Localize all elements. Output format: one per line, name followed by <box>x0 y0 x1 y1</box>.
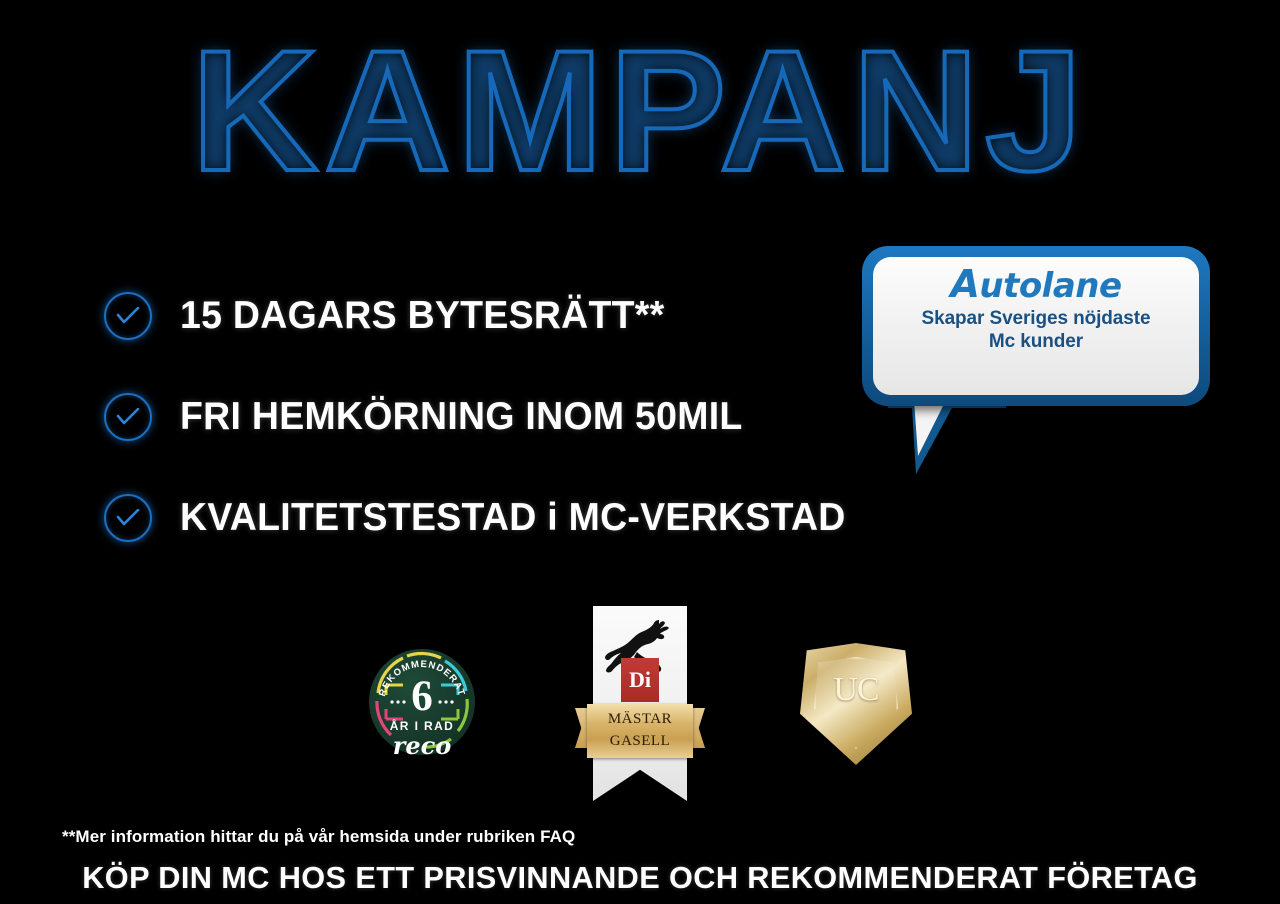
tagline: KÖP DIN MC HOS ETT PRISVINNANDE OCH REKO… <box>6 860 1273 896</box>
award-badges: REKOMMENDERAT 6 ÅR I RAD reco Di <box>0 598 1280 823</box>
di-mastar-gasell-badge: Di MÄSTAR GASELL <box>575 598 705 813</box>
uc-badge: UC <box>800 643 912 765</box>
reco-badge: REKOMMENDERAT 6 ÅR I RAD reco <box>363 643 481 761</box>
speech-bubble-line-2: Mc kunder <box>922 330 1151 353</box>
benefits-list: 15 DAGARS BYTESRÄTT** FRI HEMKÖRNING INO… <box>104 288 894 591</box>
autolane-logo: Autolane <box>950 265 1121 305</box>
promo-banner: KAMPANJ 15 DAGARS BYTESRÄTT** FRI HEMKÖR… <box>0 0 1280 904</box>
di-logo: Di <box>621 658 659 702</box>
speech-bubble: Autolane Skapar Sveriges nöjdaste Mc kun… <box>862 246 1210 471</box>
list-item-label: FRI HEMKÖRNING INOM 50MIL <box>180 396 743 438</box>
list-item-label: KVALITETSTESTAD i MC-VERKSTAD <box>180 497 846 539</box>
check-circle-icon <box>104 494 152 542</box>
check-circle-icon <box>104 292 152 340</box>
ribbon-text: MÄSTAR GASELL <box>587 708 693 752</box>
autolane-logo-rest: utolane <box>979 266 1121 306</box>
list-item-label: 15 DAGARS BYTESRÄTT** <box>180 295 665 337</box>
reco-brand: reco <box>363 731 481 760</box>
list-item: KVALITETSTESTAD i MC-VERKSTAD <box>104 490 894 546</box>
ribbon-line-1: MÄSTAR <box>587 708 693 730</box>
ribbon-line-2: GASELL <box>587 730 693 752</box>
speech-bubble-line-1: Skapar Sveriges nöjdaste <box>922 307 1151 330</box>
list-item: FRI HEMKÖRNING INOM 50MIL <box>104 389 894 445</box>
speech-bubble-body: Autolane Skapar Sveriges nöjdaste Mc kun… <box>862 246 1210 406</box>
speech-bubble-content: Autolane Skapar Sveriges nöjdaste Mc kun… <box>873 257 1199 395</box>
footnote: **Mer information hittar du på vår hemsi… <box>62 827 575 847</box>
check-circle-icon <box>104 393 152 441</box>
uc-label: UC <box>800 673 912 707</box>
page-title: KAMPANJ <box>0 22 1280 200</box>
autolane-logo-initial: A <box>950 262 979 306</box>
gasell-ribbon: MÄSTAR GASELL <box>575 700 705 762</box>
speech-bubble-text: Skapar Sveriges nöjdaste Mc kunder <box>922 307 1151 353</box>
speech-bubble-tail-icon <box>882 398 1012 476</box>
reco-number: 6 <box>363 675 481 718</box>
list-item: 15 DAGARS BYTESRÄTT** <box>104 288 894 344</box>
